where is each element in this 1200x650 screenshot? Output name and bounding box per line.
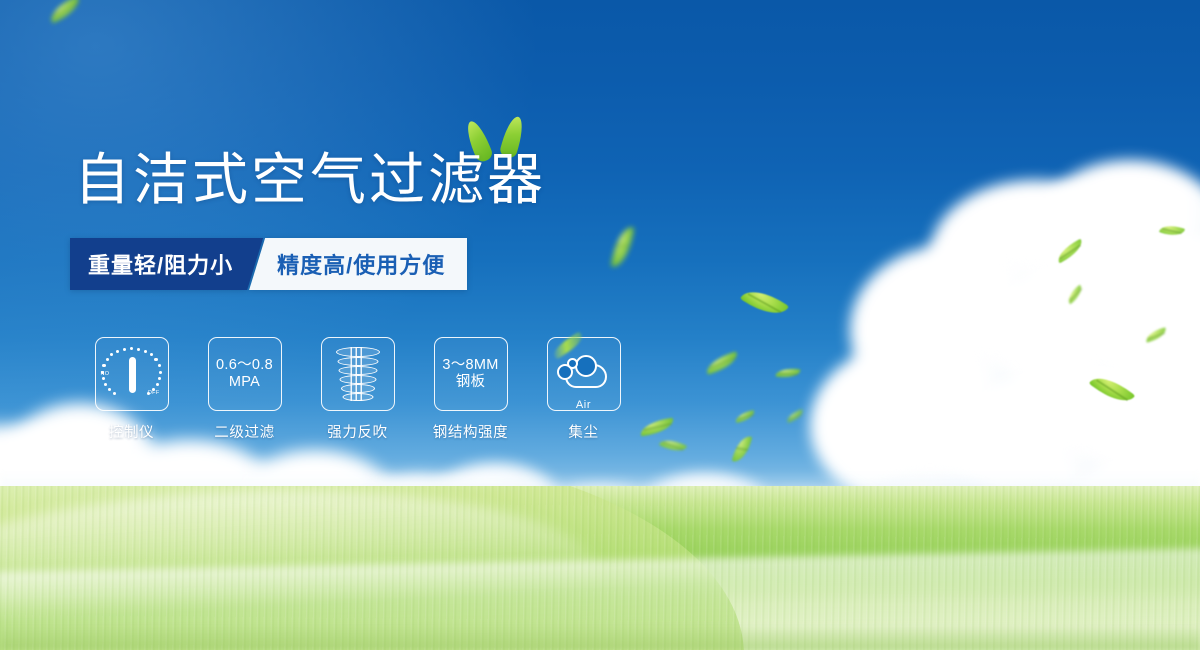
promo-banner: 自洁式空气过滤器 重量轻/阻力小 精度高/使用方便 <box>0 0 1200 650</box>
feature-list: NO OFF 控制仪 0.6～0.8 MPA 二级过滤 <box>75 337 640 442</box>
air-cloud-graphic: Air <box>555 350 613 398</box>
grass-foreground-shade <box>0 624 1200 650</box>
feature-caption: 钢结构强度 <box>433 421 509 442</box>
cloud-puff-top <box>575 355 597 377</box>
dust-particle <box>567 358 578 369</box>
pressure-unit: MPA <box>229 374 260 391</box>
feature-item-filtration[interactable]: 0.6～0.8 MPA 二级过滤 <box>188 337 301 442</box>
steel-plate-text-icon: 3～8MM 钢板 <box>434 337 508 411</box>
subtitle-left: 重量轻/阻力小 <box>70 238 263 290</box>
steel-material: 钢板 <box>456 374 486 391</box>
subtitle-right: 精度高/使用方便 <box>249 238 467 290</box>
grass-field <box>0 486 1200 650</box>
subtitle-bar: 重量轻/阻力小 精度高/使用方便 <box>70 238 467 290</box>
feature-item-dust[interactable]: Air 集尘 <box>527 337 640 442</box>
page-title: 自洁式空气过滤器 <box>74 146 546 214</box>
gauge-dial-icon: NO OFF <box>95 337 169 411</box>
coil-graphic <box>333 345 383 403</box>
steel-thickness: 3～8MM <box>442 357 498 374</box>
gauge-label-no: NO <box>101 371 110 377</box>
feature-caption: 集尘 <box>568 421 598 442</box>
feature-item-blowback[interactable]: 强力反吹 <box>301 337 414 442</box>
filter-coil-icon <box>321 337 395 411</box>
gauge-label-off: OFF <box>148 390 160 396</box>
air-label: Air <box>555 399 613 411</box>
pressure-text-icon: 0.6～0.8 MPA <box>208 337 282 411</box>
feature-item-control[interactable]: NO OFF 控制仪 <box>75 337 188 442</box>
gauge-graphic: NO OFF <box>102 345 162 403</box>
feature-caption: 控制仪 <box>109 421 154 442</box>
pressure-value: 0.6～0.8 <box>216 357 273 374</box>
gauge-needle <box>129 357 136 393</box>
feature-caption: 二级过滤 <box>214 421 274 442</box>
feature-item-steel[interactable]: 3～8MM 钢板 钢结构强度 <box>414 337 527 442</box>
air-cloud-icon: Air <box>547 337 621 411</box>
feature-caption: 强力反吹 <box>327 421 387 442</box>
